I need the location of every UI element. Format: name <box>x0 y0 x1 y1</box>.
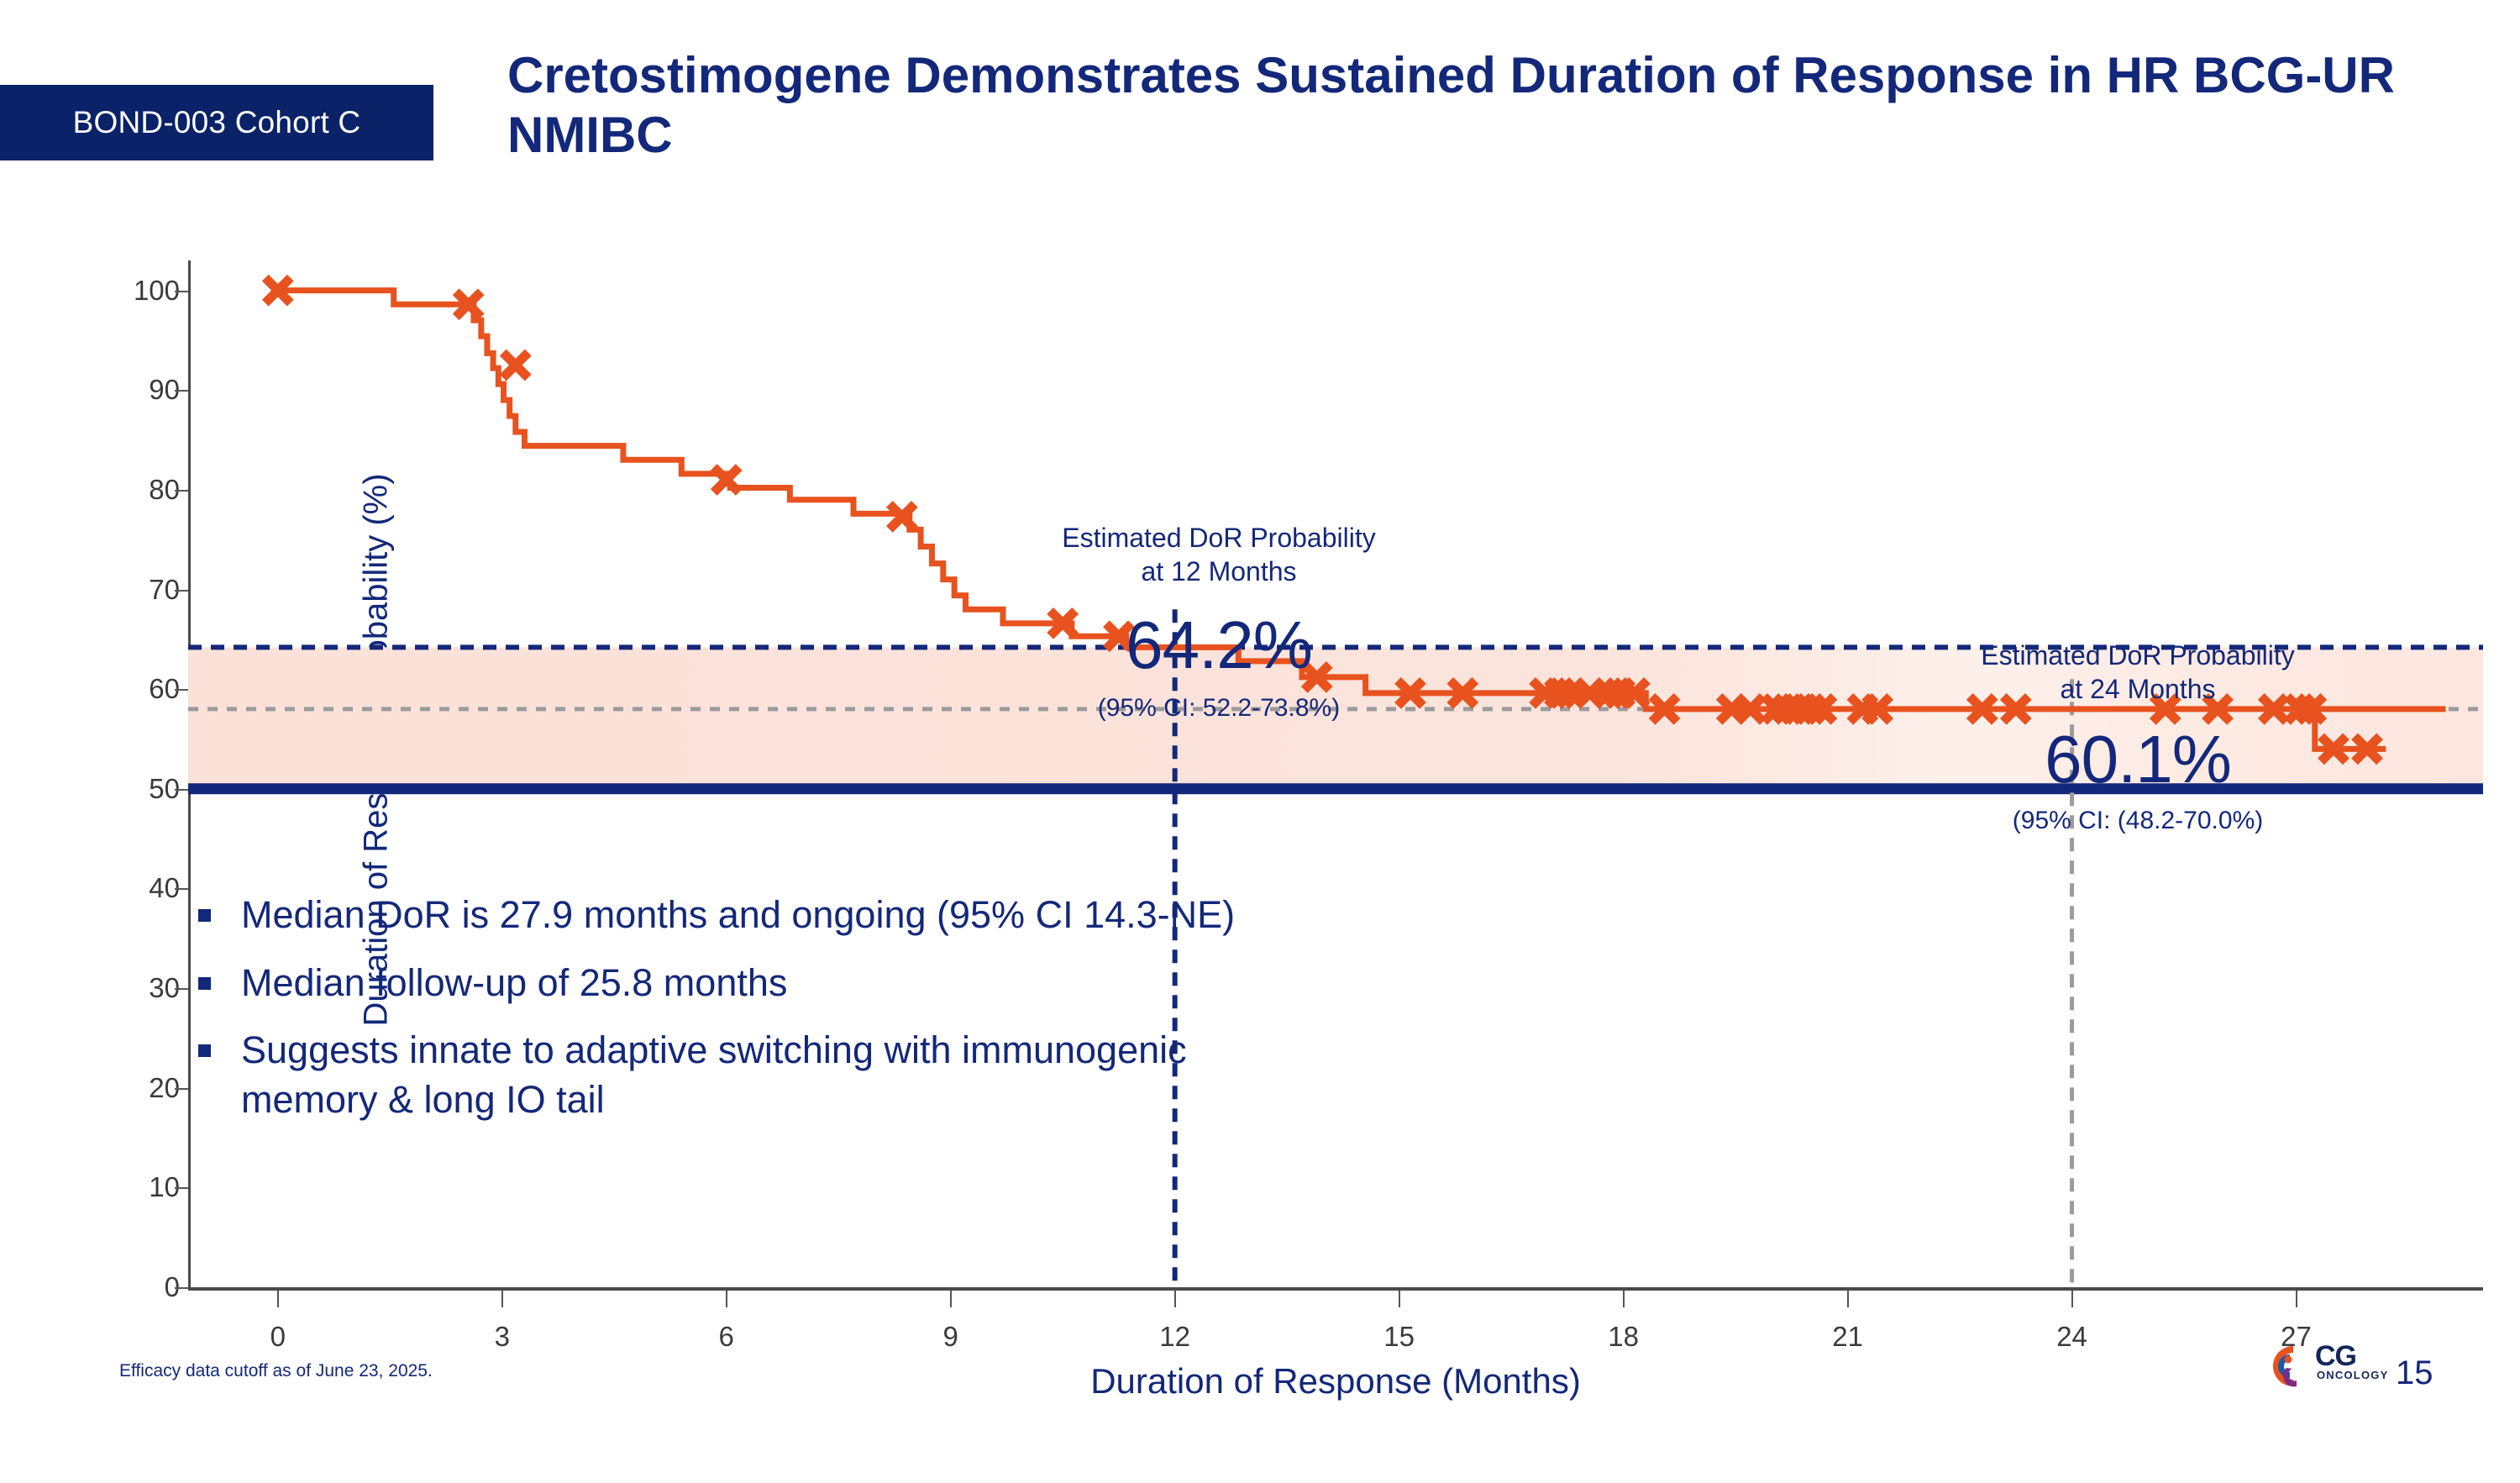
y-tick-label: 10 <box>79 1171 180 1203</box>
y-tick-mark <box>175 590 188 592</box>
y-tick-label: 0 <box>79 1271 180 1303</box>
y-tick-label: 70 <box>79 574 180 606</box>
page-title: Cretostimogene Demonstrates Sustained Du… <box>507 46 2465 166</box>
list-item: Median DoR is 27.9 months and ongoing (9… <box>198 891 1248 940</box>
footnote: Efficacy data cutoff as of June 23, 2025… <box>119 1361 433 1381</box>
cohort-badge: BOND-003 Cohort C <box>0 85 433 160</box>
page-number: 15 <box>2396 1354 2433 1392</box>
key-findings-list: Median DoR is 27.9 months and ongoing (9… <box>198 891 1248 1143</box>
bullet-square-icon <box>198 977 211 990</box>
annotation-24-heading-2: at 24 Months <box>1940 672 2335 706</box>
y-tick-label: 80 <box>79 474 180 506</box>
cg-logo-text: CG <box>2315 1342 2356 1370</box>
x-tick-label: 24 <box>2034 1321 2110 1353</box>
censor-mark <box>503 353 528 378</box>
annotation-24-ci: (95% CI: (48.2-70.0%) <box>1940 807 2335 835</box>
y-tick-mark <box>175 988 188 990</box>
x-tick-label: 15 <box>1362 1321 1437 1353</box>
plot-area: Duration of Response Probability (%) Dur… <box>188 260 2483 1483</box>
y-tick-mark <box>175 390 188 392</box>
x-axis-title: Duration of Response (Months) <box>188 1361 2483 1401</box>
y-tick-label: 40 <box>79 872 180 904</box>
list-item-text: Suggests innate to adaptive switching wi… <box>241 1026 1248 1124</box>
list-item: Suggests innate to adaptive switching wi… <box>198 1026 1248 1124</box>
y-tick-label: 20 <box>79 1072 180 1104</box>
cohort-badge-label: BOND-003 Cohort C <box>73 105 361 140</box>
annotation-24-month: Estimated DoR Probability at 24 Months 6… <box>1940 639 2335 835</box>
x-tick-label: 9 <box>913 1321 989 1353</box>
y-tick-label: 100 <box>79 275 180 307</box>
x-tick-label: 0 <box>240 1321 316 1353</box>
x-tick-label: 3 <box>465 1321 540 1353</box>
x-tick-label: 18 <box>1586 1321 1662 1353</box>
y-tick-label: 50 <box>79 773 180 805</box>
y-tick-mark <box>175 1287 188 1289</box>
list-item-text: Median DoR is 27.9 months and ongoing (9… <box>241 891 1248 940</box>
y-tick-label: 30 <box>79 972 180 1004</box>
y-tick-mark <box>175 1187 188 1189</box>
annotation-12-month: Estimated DoR Probability at 12 Months 6… <box>1021 521 1416 723</box>
y-tick-mark <box>175 888 188 890</box>
y-tick-mark <box>175 689 188 691</box>
y-tick-mark <box>175 789 188 791</box>
y-tick-mark <box>175 1088 188 1090</box>
cg-logo-mark <box>2268 1343 2313 1391</box>
annotation-12-heading-2: at 12 Months <box>1021 555 1416 588</box>
cg-oncology-logo: CG ONCOLOGY <box>2268 1343 2386 1393</box>
cg-logo-subtext: ONCOLOGY <box>2317 1370 2388 1380</box>
annotation-24-value: 60.1% <box>1940 721 2335 798</box>
km-chart: Duration of Response Probability (%) Dur… <box>0 227 2520 1311</box>
annotation-12-heading-1: Estimated DoR Probability <box>1021 521 1416 555</box>
y-tick-mark <box>175 490 188 492</box>
list-item-text: Median follow-up of 25.8 months <box>241 959 1248 1008</box>
y-tick-label: 60 <box>79 673 180 705</box>
annotation-24-heading-1: Estimated DoR Probability <box>1940 639 2335 672</box>
list-item: Median follow-up of 25.8 months <box>198 959 1248 1008</box>
bullet-square-icon <box>198 909 211 922</box>
y-tick-mark <box>175 291 188 292</box>
bullet-square-icon <box>198 1044 211 1057</box>
x-tick-label: 12 <box>1137 1321 1213 1353</box>
y-tick-label: 90 <box>79 374 180 406</box>
annotation-12-ci: (95% CI: 52.2-73.8%) <box>1021 694 1416 723</box>
x-tick-label: 6 <box>689 1321 764 1353</box>
x-tick-label: 21 <box>1810 1321 1886 1353</box>
annotation-12-value: 64.2% <box>1021 607 1416 684</box>
